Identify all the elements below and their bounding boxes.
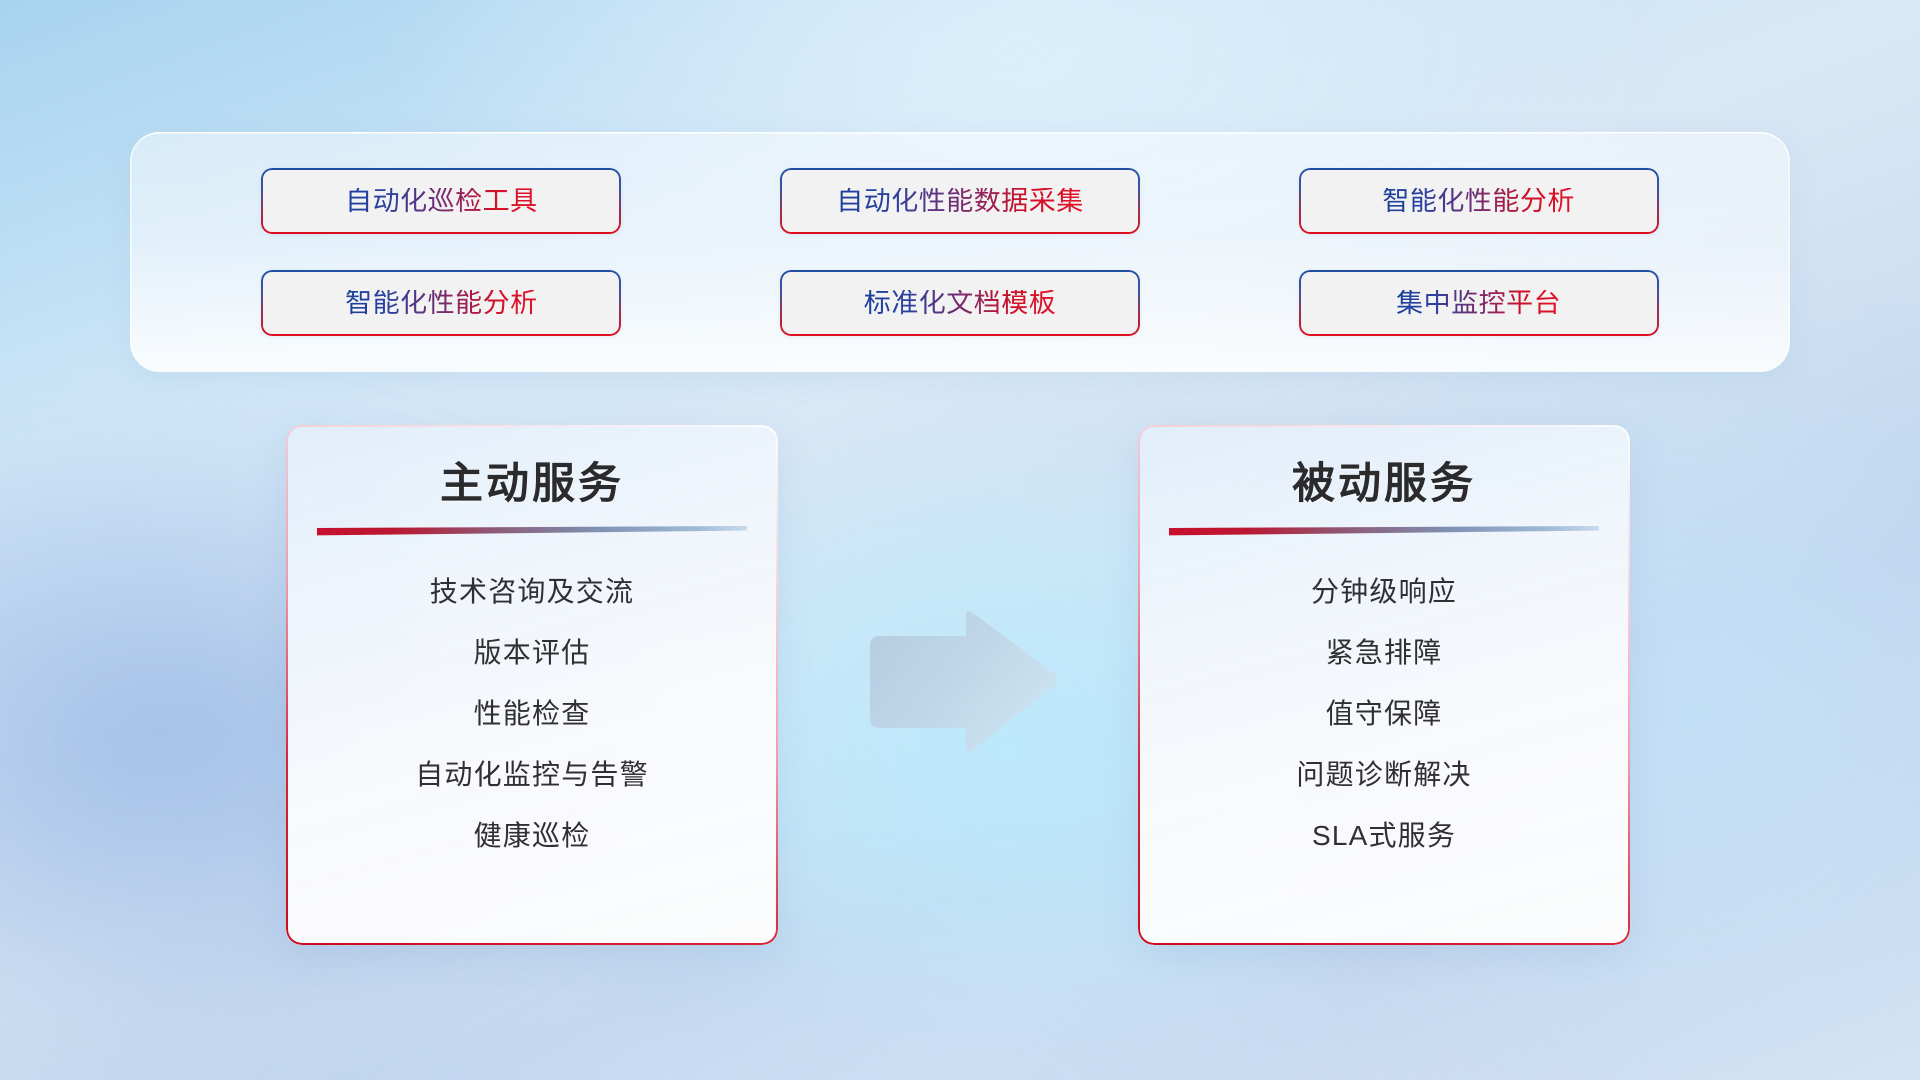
- card-list-item: 紧急排障: [1326, 635, 1443, 670]
- card-list-item: 技术咨询及交流: [430, 574, 634, 609]
- card-item-list: 技术咨询及交流 版本评估 性能检查 自动化监控与告警 健康巡检: [286, 574, 778, 853]
- card-list-item: 分钟级响应: [1311, 574, 1457, 609]
- card-list-item: 自动化监控与告警: [415, 757, 649, 792]
- capability-tag[interactable]: 集中监控平台: [1299, 270, 1659, 336]
- card-list-item: 值守保障: [1326, 696, 1443, 731]
- service-card-passive: 被动服务 分钟级响应 紧急排障 值守保障: [1138, 425, 1630, 945]
- card-list-item: SLA式服务: [1312, 818, 1456, 853]
- capability-tag-label: 自动化性能数据采集: [836, 188, 1084, 215]
- card-list-item: 性能检查: [474, 696, 591, 731]
- card-list-item: 健康巡检: [474, 818, 591, 853]
- capability-tag-label: 智能化性能分析: [345, 290, 538, 317]
- capability-tag-label: 智能化性能分析: [1382, 188, 1575, 215]
- capability-tag-label: 标准化文档模板: [864, 290, 1057, 317]
- capability-tag-label: 集中监控平台: [1396, 290, 1561, 317]
- card-list-item: 版本评估: [474, 635, 591, 670]
- card-item-list: 分钟级响应 紧急排障 值守保障 问题诊断解决 SLA式服务: [1138, 574, 1630, 853]
- capability-tag[interactable]: 智能化性能分析: [1299, 168, 1659, 234]
- card-list-item: 问题诊断解决: [1296, 757, 1471, 792]
- card-divider: [1169, 526, 1599, 536]
- card-title: 主动服务: [440, 461, 624, 508]
- right-arrow-icon: [862, 610, 1062, 758]
- capability-tag-grid: 自动化巡检工具 自动化性能数据采集 智能化性能分析 智能化性能分析 标准化文档模…: [130, 132, 1790, 372]
- service-card-active: 主动服务 技术咨询及交流 版本评估 性能检查: [286, 425, 778, 945]
- capability-tag[interactable]: 自动化性能数据采集: [780, 168, 1140, 234]
- card-title: 被动服务: [1292, 461, 1476, 508]
- capability-tag[interactable]: 智能化性能分析: [261, 270, 621, 336]
- capability-tag[interactable]: 自动化巡检工具: [261, 168, 621, 234]
- card-divider: [317, 526, 747, 536]
- capability-panel: 自动化巡检工具 自动化性能数据采集 智能化性能分析 智能化性能分析 标准化文档模…: [130, 132, 1790, 372]
- capability-tag[interactable]: 标准化文档模板: [780, 270, 1140, 336]
- capability-tag-label: 自动化巡检工具: [345, 188, 538, 215]
